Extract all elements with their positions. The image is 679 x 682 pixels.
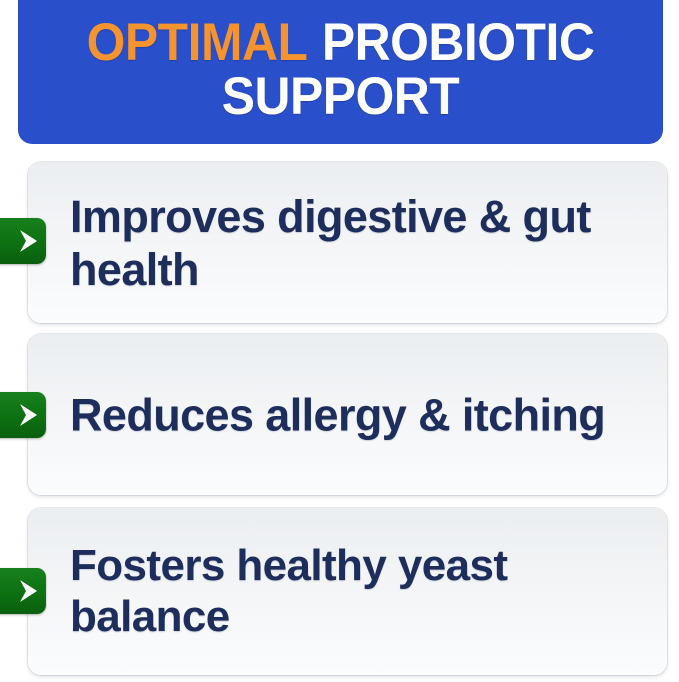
benefit-card-1: Improves digestive & gut health: [28, 162, 667, 323]
benefit-text-2: Reduces allergy & itching: [70, 388, 649, 441]
benefit-text-3: Fosters healthy yeast balance: [70, 540, 649, 644]
banner-title-accent: OPTIMAL: [87, 13, 307, 72]
benefit-text-1: Improves digestive & gut health: [70, 189, 649, 295]
benefit-card-3: Fosters healthy yeast balance: [28, 508, 667, 675]
benefit-marker-2: [0, 392, 46, 438]
benefit-marker-1: [0, 218, 46, 264]
benefit-marker-3: [0, 568, 46, 614]
header-banner: OPTIMAL PROBIOTIC SUPPORT: [18, 0, 663, 144]
chevron-right-icon: [17, 402, 39, 428]
benefit-card-2: Reduces allergy & itching: [28, 334, 667, 495]
banner-title: OPTIMAL PROBIOTIC SUPPORT: [51, 16, 631, 124]
chevron-right-icon: [17, 228, 39, 254]
infographic-root: OPTIMAL PROBIOTIC SUPPORT Improves diges…: [0, 0, 679, 682]
banner-title-space: [307, 13, 322, 72]
chevron-right-icon: [17, 578, 39, 604]
